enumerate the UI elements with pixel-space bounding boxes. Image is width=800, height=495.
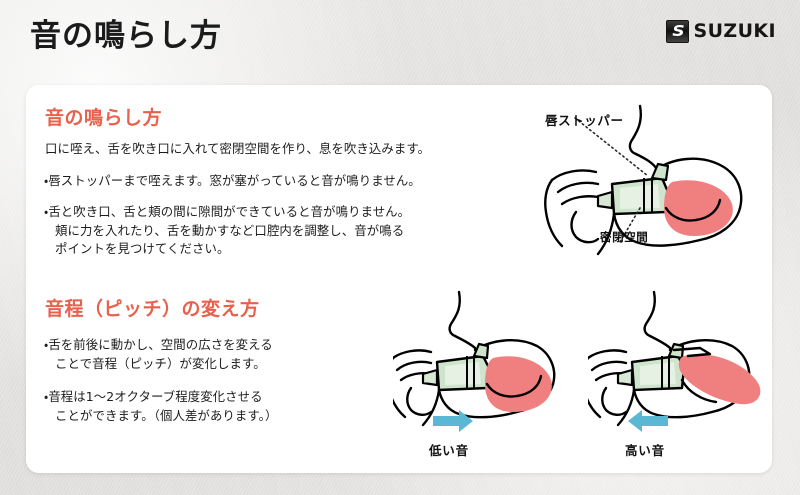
section-2-bullet-2: ・音程は1〜2オクターブ程度変化させる ことができます。（個人差があります。） <box>44 388 277 425</box>
suzuki-s-mark-icon: S <box>666 20 689 43</box>
slide-page: 音の鳴らし方 S SUZUKI 音の鳴らし方 口に咥え、舌を吹き口に入れて密閉空… <box>0 0 800 495</box>
section-2-heading: 音程（ピッチ）の変え方 <box>45 300 260 319</box>
arrow-left-icon <box>628 410 668 432</box>
illustration-high-pitch <box>588 288 788 438</box>
illustration-low-pitch <box>393 288 593 438</box>
section-1-bullet-2: ・舌と吹き口、舌と頬の間に隙間ができていると音が鳴りません。 頬に力を入れたり、… <box>44 203 410 259</box>
section-1-intro-text: 口に咥え、舌を吹き口に入れて密閉空間を作り、息を吹き込みます。 <box>45 140 430 157</box>
bullet-line: ・音程は1〜2オクターブ程度変化させる <box>44 388 277 407</box>
suzuki-wordmark: SUZUKI <box>693 22 776 41</box>
section-2-bullet-1: ・舌を前後に動かし、空間の広さを変える ことで音程（ピッチ）が変化します。 <box>44 336 273 373</box>
bullet-line: ・唇ストッパーまで咥えます。窓が塞がっていると音が鳴りません。 <box>44 172 421 191</box>
bullet-line: ・舌を前後に動かし、空間の広さを変える <box>44 336 273 355</box>
callout-lip-stopper: 唇ストッパー <box>545 110 624 129</box>
bullet-line: ポイントを見つけてください。 <box>44 240 410 259</box>
section-1-bullet-1: ・唇ストッパーまで咥えます。窓が塞がっていると音が鳴りません。 <box>44 172 421 191</box>
bullet-line: 頬に力を入れたり、舌を動かすなど口腔内を調整し、音が鳴る <box>44 222 410 241</box>
suzuki-logo: S SUZUKI <box>666 20 776 43</box>
page-title: 音の鳴らし方 <box>30 21 222 52</box>
suzuki-s-glyph: S <box>672 24 684 39</box>
section-1-heading: 音の鳴らし方 <box>45 109 162 128</box>
bullet-line: ことで音程（ピッチ）が変化します。 <box>44 355 273 374</box>
arrow-right-icon <box>433 410 473 432</box>
bullet-line: ・舌と吹き口、舌と頬の間に隙間ができていると音が鳴りません。 <box>44 203 410 222</box>
label-high-pitch: 高い音 <box>625 440 665 459</box>
callout-sealed-space: 密閉空間 <box>600 229 648 245</box>
label-low-pitch: 低い音 <box>429 440 469 459</box>
bullet-line: ことができます。（個人差があります。） <box>44 407 277 426</box>
